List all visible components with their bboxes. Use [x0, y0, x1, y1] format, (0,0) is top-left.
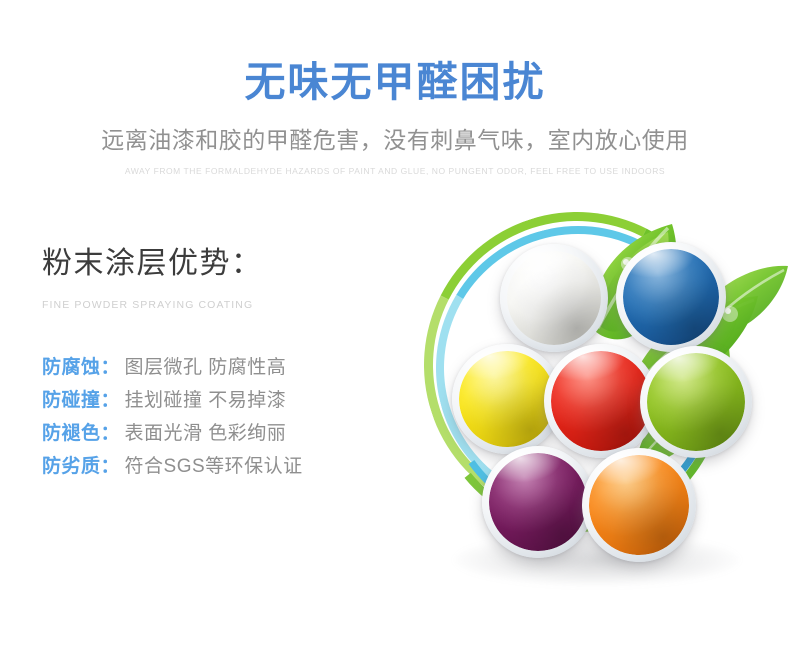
feature-value: 图层微孔 防腐性高 — [125, 352, 287, 379]
jar-green — [640, 346, 752, 458]
jar-white — [500, 244, 608, 352]
jar-inner — [489, 453, 587, 551]
features-heading-english: FINE POWDER SPRAYING COATING — [42, 298, 372, 312]
list-item: 防劣质 ： 符合SGS等环保认证 — [42, 451, 372, 484]
jar-inner — [507, 251, 601, 345]
banner-header: 无味无甲醛困扰 远离油漆和胶的甲醛危害，没有刺鼻气味，室内放心使用 AWAY F… — [0, 56, 790, 177]
feature-colon: ： — [101, 352, 120, 379]
feature-colon: ： — [101, 451, 120, 478]
feature-value: 挂划碰撞 不易掉漆 — [125, 385, 287, 412]
feature-value: 符合SGS等环保认证 — [125, 451, 303, 478]
page-subtitle-english: AWAY FROM THE FORMALDEHYDE HAZARDS OF PA… — [0, 165, 790, 177]
features-heading: 粉末涂层优势： — [42, 245, 372, 283]
powder-fill — [459, 351, 555, 447]
feature-colon: ： — [101, 385, 120, 412]
feature-key: 防褪色 — [42, 418, 101, 445]
feature-colon: ： — [101, 418, 120, 445]
feature-key: 防腐蚀 — [42, 352, 101, 379]
feature-list: 防腐蚀 ： 图层微孔 防腐性高 防碰撞 ： 挂划碰撞 不易掉漆 防褪色 ： 表面… — [42, 352, 372, 484]
product-image — [396, 196, 790, 596]
feature-key: 防劣质 — [42, 451, 101, 478]
jar-inner — [551, 351, 651, 451]
jar-blue — [616, 242, 726, 352]
jar-inner — [589, 455, 689, 555]
features-panel: 粉末涂层优势： FINE POWDER SPRAYING COATING 防腐蚀… — [42, 245, 372, 484]
powder-fill — [647, 353, 745, 451]
list-item: 防碰撞 ： 挂划碰撞 不易掉漆 — [42, 385, 372, 418]
jar-inner — [647, 353, 745, 451]
powder-fill — [589, 455, 689, 555]
jar-purple — [482, 446, 594, 558]
page-title: 无味无甲醛困扰 — [0, 56, 790, 108]
powder-fill — [551, 351, 651, 451]
powder-fill — [489, 453, 587, 551]
feature-value: 表面光滑 色彩绚丽 — [125, 418, 287, 445]
jar-orange — [582, 448, 696, 562]
page-subtitle: 远离油漆和胶的甲醛危害，没有刺鼻气味，室内放心使用 — [0, 124, 790, 156]
feature-key: 防碰撞 — [42, 385, 101, 412]
product-banner-page: 无味无甲醛困扰 远离油漆和胶的甲醛危害，没有刺鼻气味，室内放心使用 AWAY F… — [0, 0, 790, 653]
list-item: 防褪色 ： 表面光滑 色彩绚丽 — [42, 418, 372, 451]
list-item: 防腐蚀 ： 图层微孔 防腐性高 — [42, 352, 372, 385]
jar-inner — [459, 351, 555, 447]
powder-fill — [507, 251, 601, 345]
jar-inner — [623, 249, 719, 345]
powder-fill — [623, 249, 719, 345]
artwork-stage — [396, 196, 790, 596]
